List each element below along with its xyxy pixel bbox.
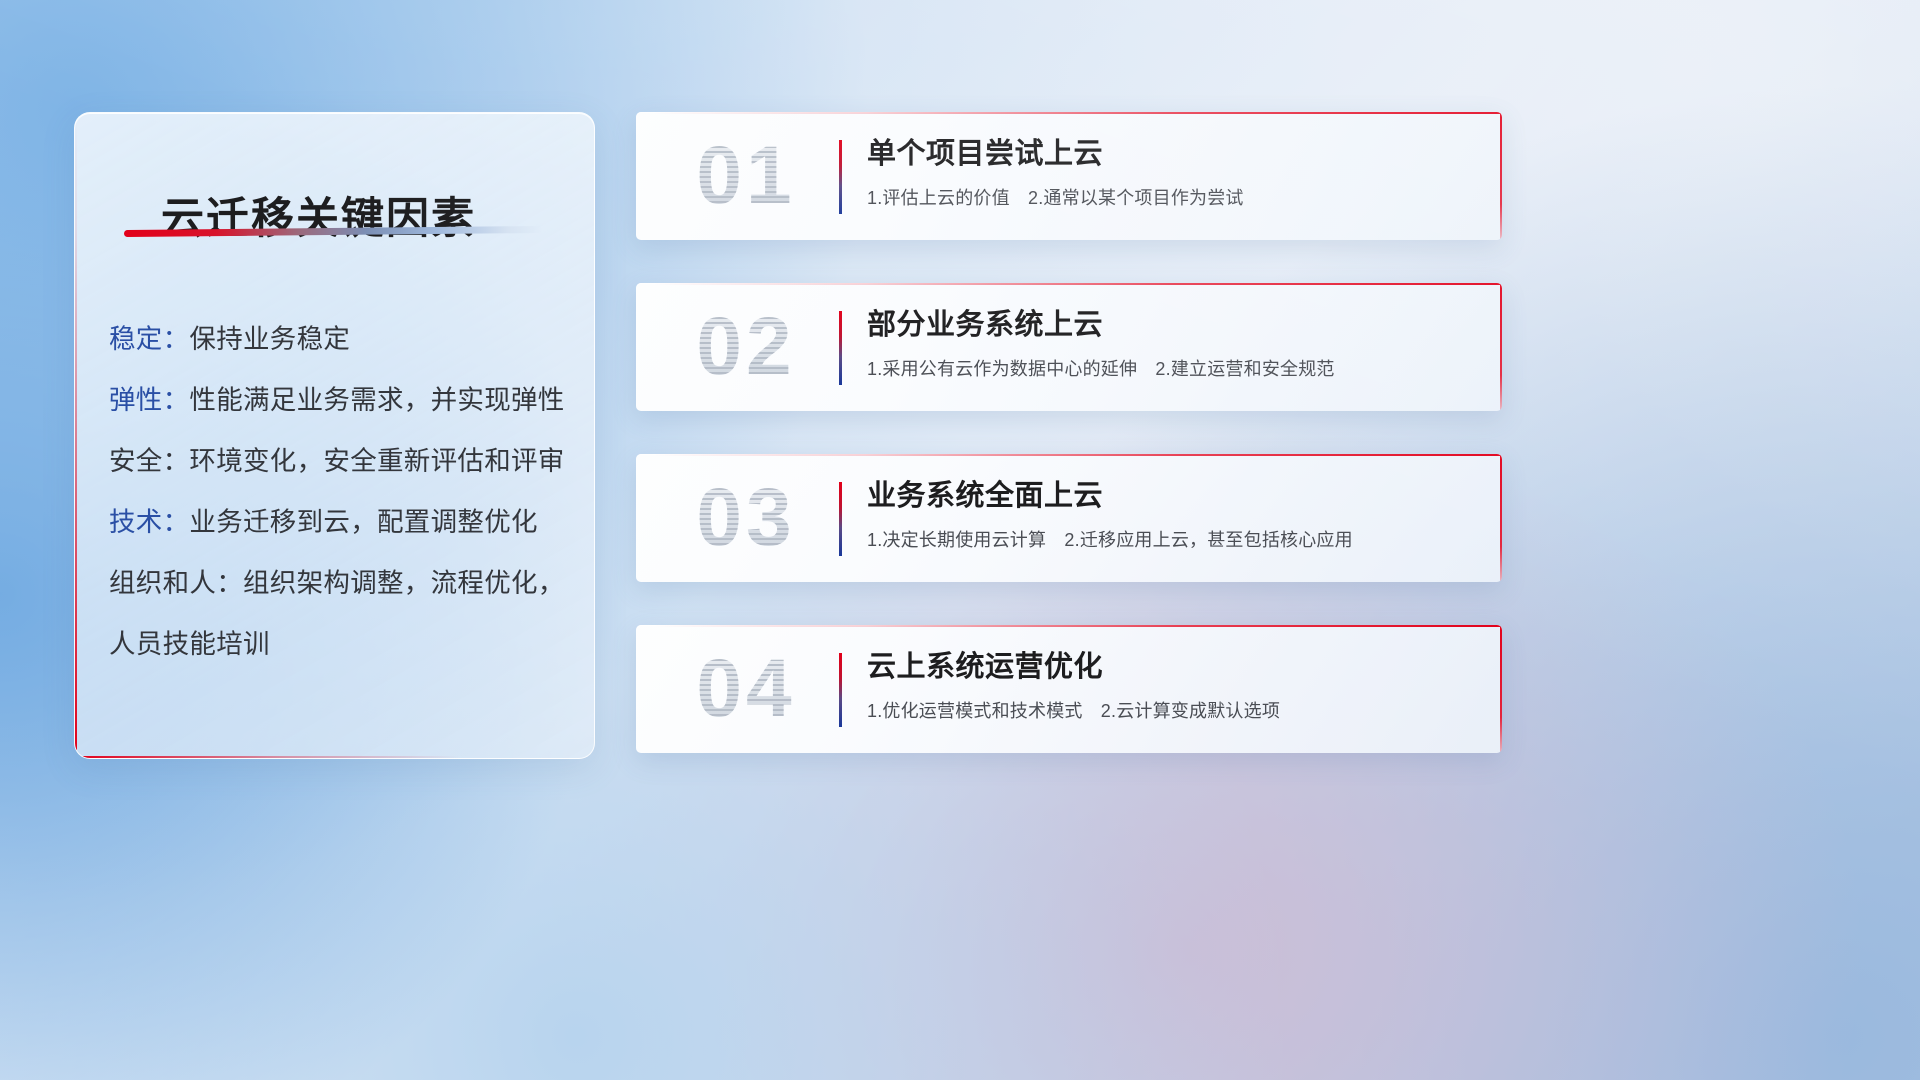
stage-divider-bar bbox=[839, 653, 842, 727]
stage-card-description: 1.评估上云的价值 2.通常以某个项目作为尝试 bbox=[867, 185, 1478, 211]
page-title: 云迁移关键因素 bbox=[161, 184, 476, 246]
factor-label: 安全： bbox=[109, 446, 189, 476]
stage-card-title: 单个项目尝试上云 bbox=[867, 134, 1478, 174]
stage-card-body: 云上系统运营优化 1.优化运营模式和技术模式 2.云计算变成默认选项 bbox=[867, 647, 1478, 724]
stage-card-list: 01 单个项目尝试上云 1.评估上云的价值 2.通常以某个项目作为尝试 02 部… bbox=[636, 112, 1502, 796]
factor-text: 性能满足业务需求，并实现弹性 bbox=[189, 385, 564, 415]
stage-card-04[interactable]: 04 云上系统运营优化 1.优化运营模式和技术模式 2.云计算变成默认选项 bbox=[636, 625, 1502, 753]
stage-card-description: 1.决定长期使用云计算 2.迁移应用上云，甚至包括核心应用 bbox=[867, 527, 1478, 553]
stage-card-title: 部分业务系统上云 bbox=[867, 305, 1478, 345]
stage-card-description: 1.优化运营模式和技术模式 2.云计算变成默认选项 bbox=[867, 698, 1478, 724]
slide-canvas: 云迁移关键因素 稳定：保持业务稳定 弹性：性能满足业务需求，并实现弹性 安全：环… bbox=[0, 0, 1920, 1080]
stage-divider-bar bbox=[839, 140, 842, 214]
factor-item-stability: 稳定：保持业务稳定 bbox=[109, 309, 576, 370]
factor-item-elasticity: 弹性：性能满足业务需求，并实现弹性 bbox=[109, 370, 576, 431]
stage-number: 04 bbox=[664, 639, 828, 739]
stage-card-description: 1.采用公有云作为数据中心的延伸 2.建立运营和安全规范 bbox=[867, 356, 1478, 382]
factor-label: 组织和人： bbox=[109, 568, 243, 598]
stage-number: 02 bbox=[664, 297, 828, 397]
key-factors-panel: 云迁移关键因素 稳定：保持业务稳定 弹性：性能满足业务需求，并实现弹性 安全：环… bbox=[74, 112, 595, 759]
factor-item-organization: 组织和人：组织架构调整，流程优化，人员技能培训 bbox=[109, 553, 576, 675]
stage-card-body: 业务系统全面上云 1.决定长期使用云计算 2.迁移应用上云，甚至包括核心应用 bbox=[867, 476, 1478, 553]
stage-card-01[interactable]: 01 单个项目尝试上云 1.评估上云的价值 2.通常以某个项目作为尝试 bbox=[636, 112, 1502, 240]
stage-divider-bar bbox=[839, 311, 842, 385]
stage-card-body: 部分业务系统上云 1.采用公有云作为数据中心的延伸 2.建立运营和安全规范 bbox=[867, 305, 1478, 382]
stage-divider-bar bbox=[839, 482, 842, 556]
factor-label: 稳定： bbox=[109, 324, 189, 354]
stage-card-title: 业务系统全面上云 bbox=[867, 476, 1478, 516]
factor-label: 技术： bbox=[109, 507, 189, 537]
factor-item-technology: 技术：业务迁移到云，配置调整优化 bbox=[109, 492, 576, 553]
stage-card-title: 云上系统运营优化 bbox=[867, 647, 1478, 687]
factor-text: 环境变化，安全重新评估和评审 bbox=[189, 446, 564, 476]
factor-label: 弹性： bbox=[109, 385, 189, 415]
factor-text: 业务迁移到云，配置调整优化 bbox=[189, 507, 537, 537]
stage-number: 01 bbox=[664, 126, 828, 226]
factor-item-security: 安全：环境变化，安全重新评估和评审 bbox=[109, 431, 576, 492]
stage-card-02[interactable]: 02 部分业务系统上云 1.采用公有云作为数据中心的延伸 2.建立运营和安全规范 bbox=[636, 283, 1502, 411]
factor-text: 保持业务稳定 bbox=[189, 324, 350, 354]
stage-card-body: 单个项目尝试上云 1.评估上云的价值 2.通常以某个项目作为尝试 bbox=[867, 134, 1478, 211]
factor-list: 稳定：保持业务稳定 弹性：性能满足业务需求，并实现弹性 安全：环境变化，安全重新… bbox=[109, 309, 576, 675]
stage-number: 03 bbox=[664, 468, 828, 568]
stage-card-03[interactable]: 03 业务系统全面上云 1.决定长期使用云计算 2.迁移应用上云，甚至包括核心应… bbox=[636, 454, 1502, 582]
